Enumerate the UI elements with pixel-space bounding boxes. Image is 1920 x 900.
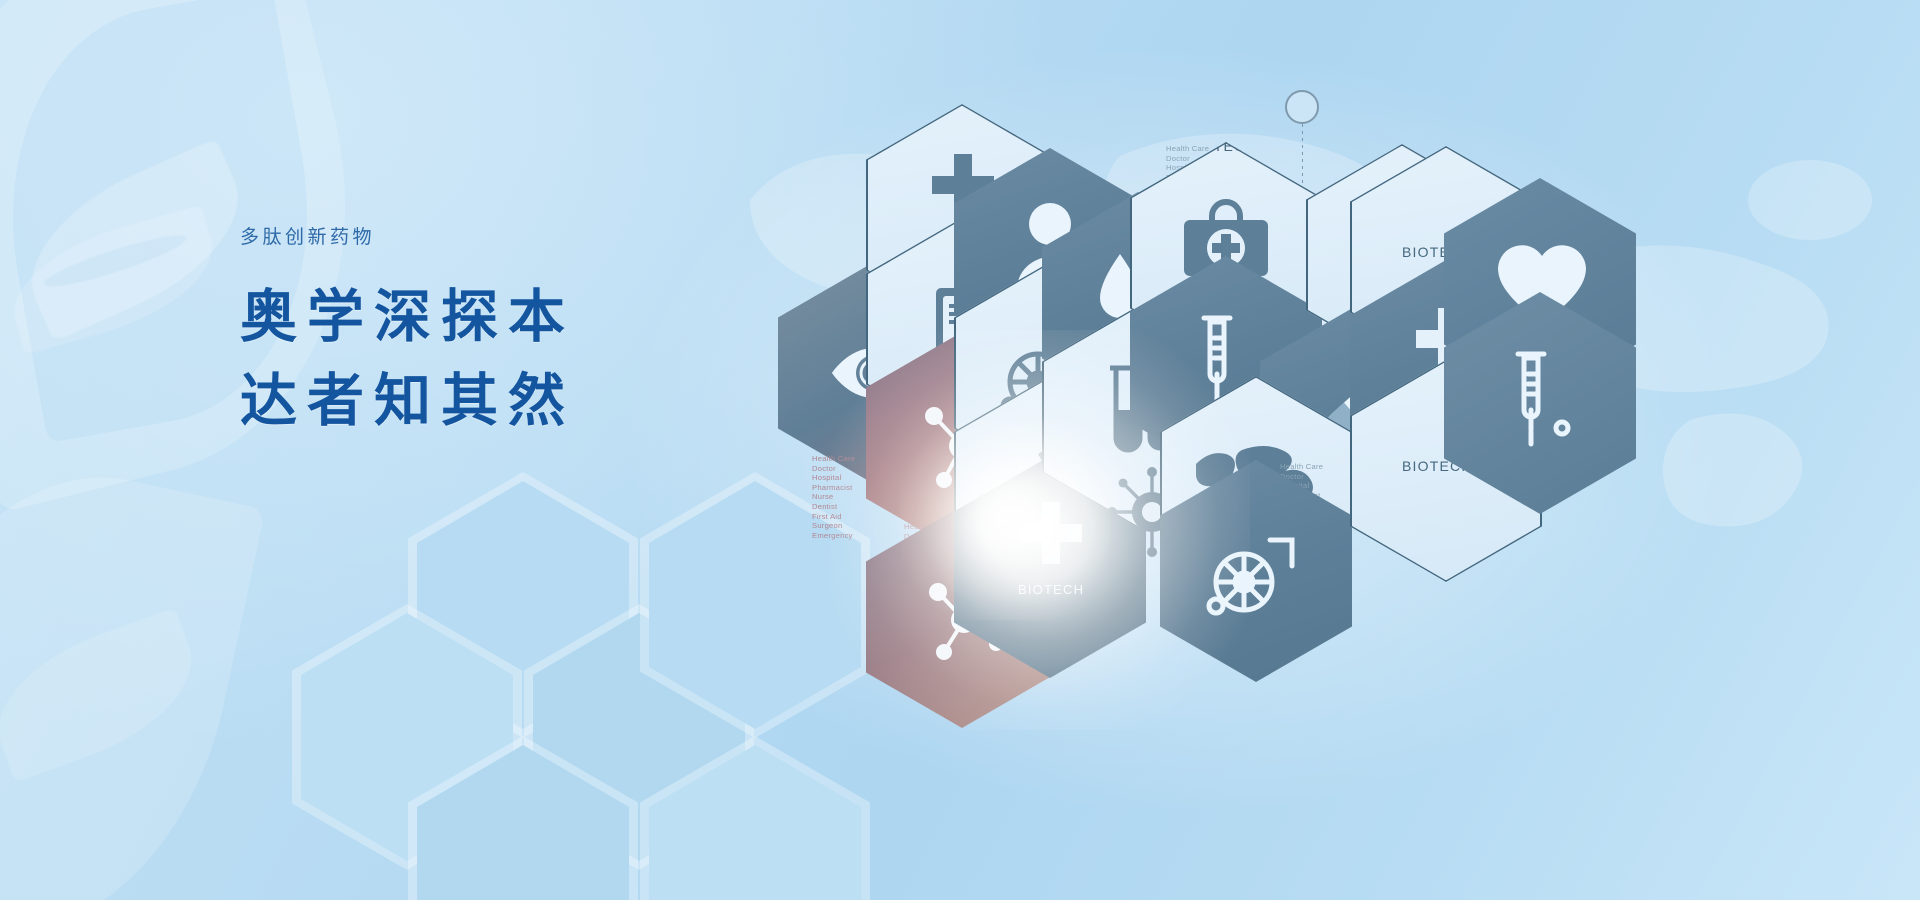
hex-label-biotech-bottom: BIOTECH — [1018, 582, 1084, 597]
banner-stage: 多肽创新药物 奥学深探本 达者知其然 Health Care D — [0, 0, 1920, 900]
syringe-icon-far-right — [1496, 342, 1582, 450]
connector-ring-icon — [1285, 90, 1319, 124]
hexagon-cluster: Health Care Doctor Hospital Pharmacist N… — [0, 0, 1920, 900]
wheelchair-icon-lower — [1200, 522, 1312, 616]
tag-list-left: Health Care Doctor Hospital Pharmacist N… — [812, 454, 855, 540]
